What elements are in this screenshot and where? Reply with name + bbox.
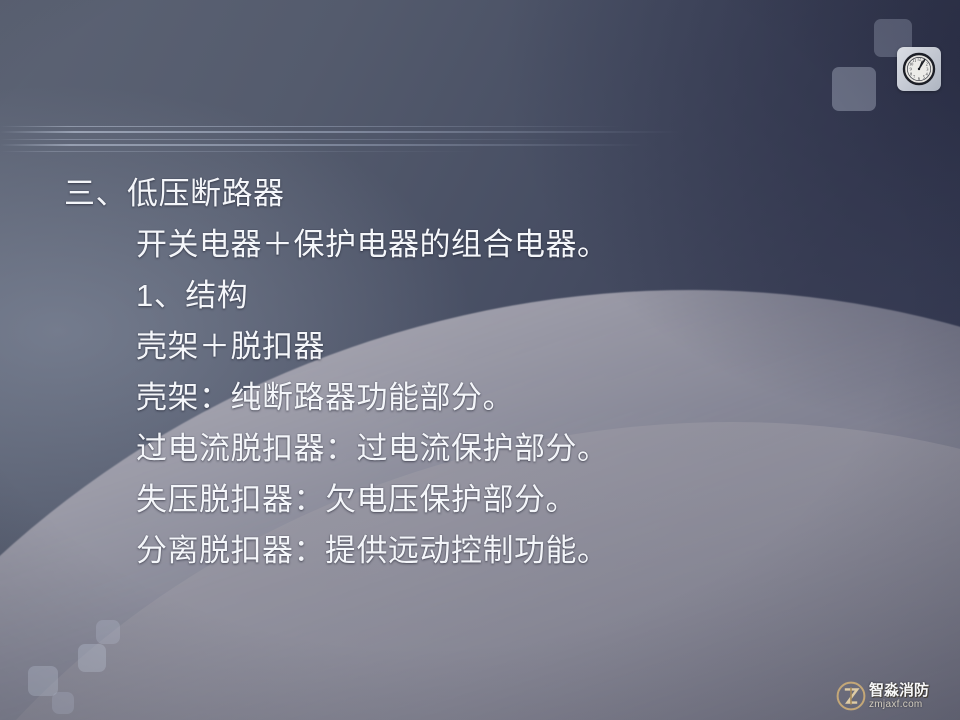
svg-text:5: 5	[923, 75, 925, 80]
slide-text-line: 壳架：纯断路器功能部分。	[0, 372, 960, 423]
clock-icon: 12 3 6 9 1 2 4 5 7 8 10 11	[897, 47, 941, 91]
decor-square-bottom-left-c	[52, 692, 74, 714]
svg-text:7: 7	[913, 75, 915, 80]
decor-square-bottom-left-e	[96, 620, 120, 644]
slide-body-text: 三、低压断路器 开关电器＋保护电器的组合电器。 1、结构 壳架＋脱扣器 壳架：纯…	[0, 168, 960, 576]
watermark-url: zmjaxf.com	[869, 700, 929, 710]
svg-text:2: 2	[926, 61, 928, 66]
svg-text:8: 8	[910, 72, 912, 77]
decor-square-bottom-left-b	[28, 666, 58, 696]
presentation-slide: 12 3 6 9 1 2 4 5 7 8 10 11 三、低压断路器 开关电器＋…	[0, 0, 960, 720]
svg-text:11: 11	[912, 58, 916, 63]
svg-text:4: 4	[926, 72, 928, 77]
slide-text-line: 失压脱扣器：欠电压保护部分。	[0, 474, 960, 525]
slide-text-line: 分离脱扣器：提供远动控制功能。	[0, 525, 960, 576]
zhimiao-logo-icon	[836, 681, 866, 711]
watermark-title: 智淼消防	[869, 683, 929, 698]
watermark: 智淼消防 zmjaxf.com	[836, 676, 958, 716]
slide-text-line: 三、低压断路器	[0, 168, 960, 219]
decorative-highlight-lines	[0, 108, 800, 168]
slide-text-line: 壳架＋脱扣器	[0, 321, 960, 372]
decor-square-top-right-lower	[832, 67, 876, 111]
slide-text-line: 1、结构	[0, 270, 960, 321]
svg-text:6: 6	[918, 76, 920, 81]
svg-text:12: 12	[917, 57, 921, 62]
slide-text-line: 过电流脱扣器：过电流保护部分。	[0, 423, 960, 474]
slide-text-line: 开关电器＋保护电器的组合电器。	[0, 219, 960, 270]
decor-square-bottom-left-d	[78, 644, 106, 672]
